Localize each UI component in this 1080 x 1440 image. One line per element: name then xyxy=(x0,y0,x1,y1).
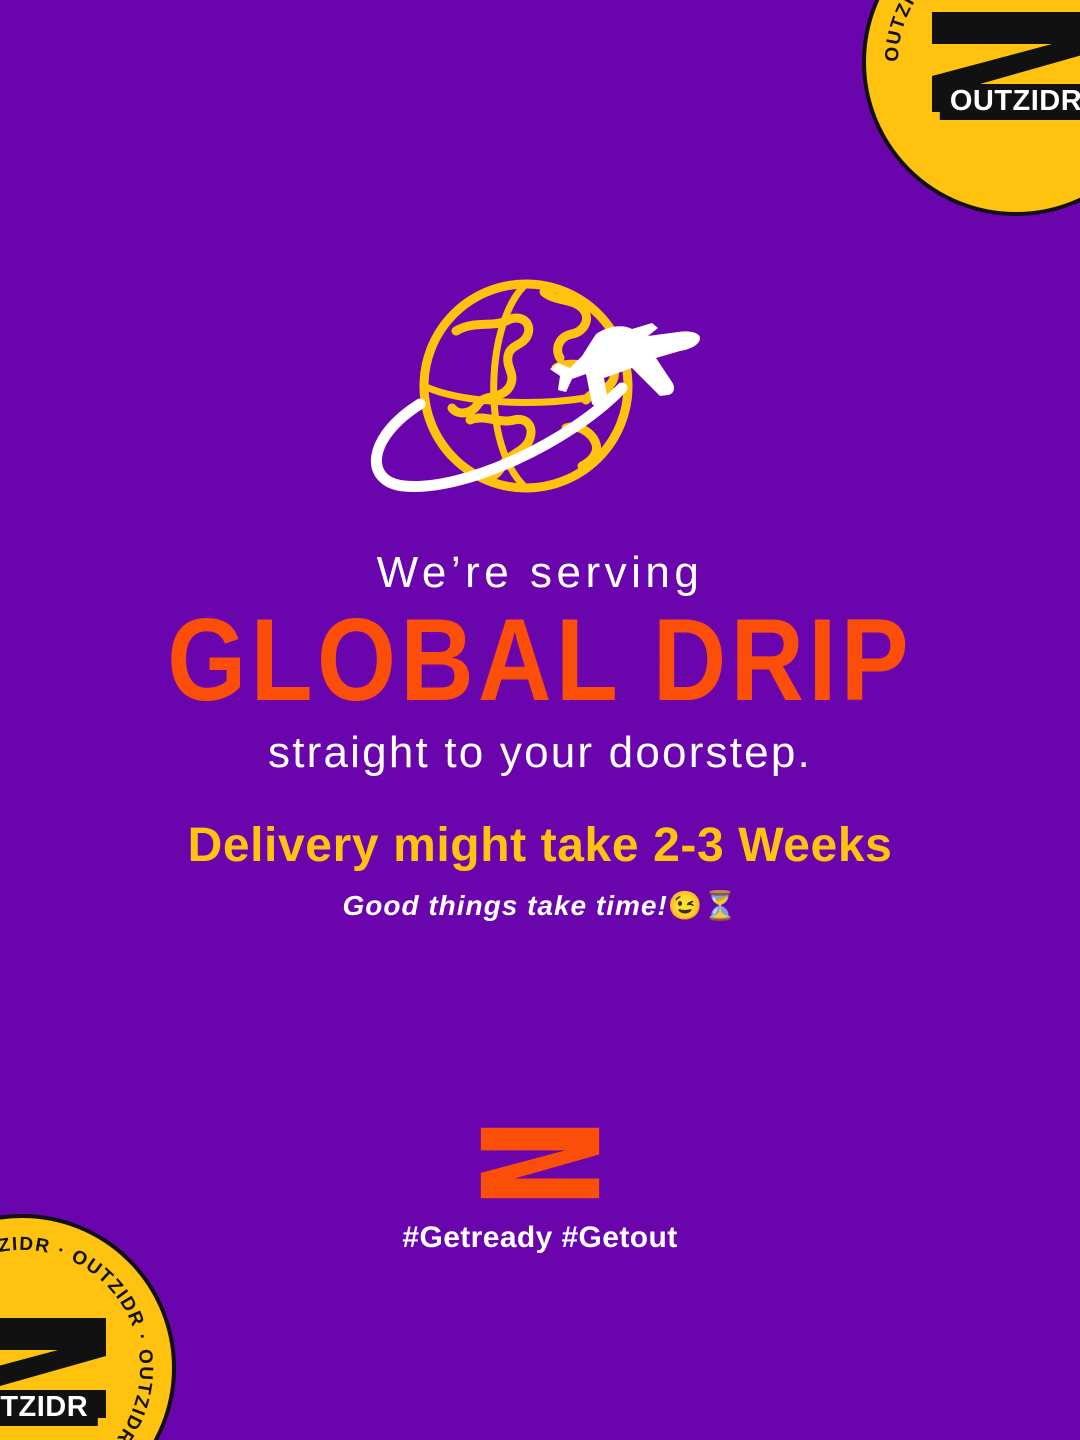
wink-hourglass-emoji: 😉⏳ xyxy=(668,890,738,921)
delivery-notice-block: Delivery might take 2-3 Weeks Good thing… xyxy=(0,820,1080,922)
poster-canvas: OUTZIDR · OUTZIDR · OUTZIDR · OUTZIDR · … xyxy=(0,0,1080,1440)
brand-badge-bottom-left: OUTZIDR · OUTZIDR · OUTZIDR · OUTZIDR · … xyxy=(0,1214,176,1440)
headline-block: We’re serving GLOBAL DRIP straight to yo… xyxy=(0,548,1080,778)
brand-badge-top-right: OUTZIDR · OUTZIDR · OUTZIDR · OUTZIDR · … xyxy=(862,0,1080,216)
badge-core-label-bottom-left: OUTZIDR xyxy=(0,1390,98,1426)
delivery-note: Good things take time!😉⏳ xyxy=(0,891,1080,922)
delivery-time-text: Delivery might take 2-3 Weeks xyxy=(0,820,1080,873)
eyebrow-text: We’re serving xyxy=(0,548,1080,597)
delivery-note-text: Good things take time! xyxy=(342,890,667,921)
globe-with-airplane-icon xyxy=(360,276,720,512)
badge-core-top-right: OUTZIDR xyxy=(928,10,1080,114)
badge-core-bottom-left: OUTZIDR xyxy=(0,1316,110,1420)
z-monogram-icon xyxy=(478,1118,602,1208)
badge-core-label-top-right: OUTZIDR xyxy=(940,84,1080,120)
headline-text: GLOBAL DRIP xyxy=(0,603,1080,720)
subheadline-text: straight to your doorstep. xyxy=(0,729,1080,777)
